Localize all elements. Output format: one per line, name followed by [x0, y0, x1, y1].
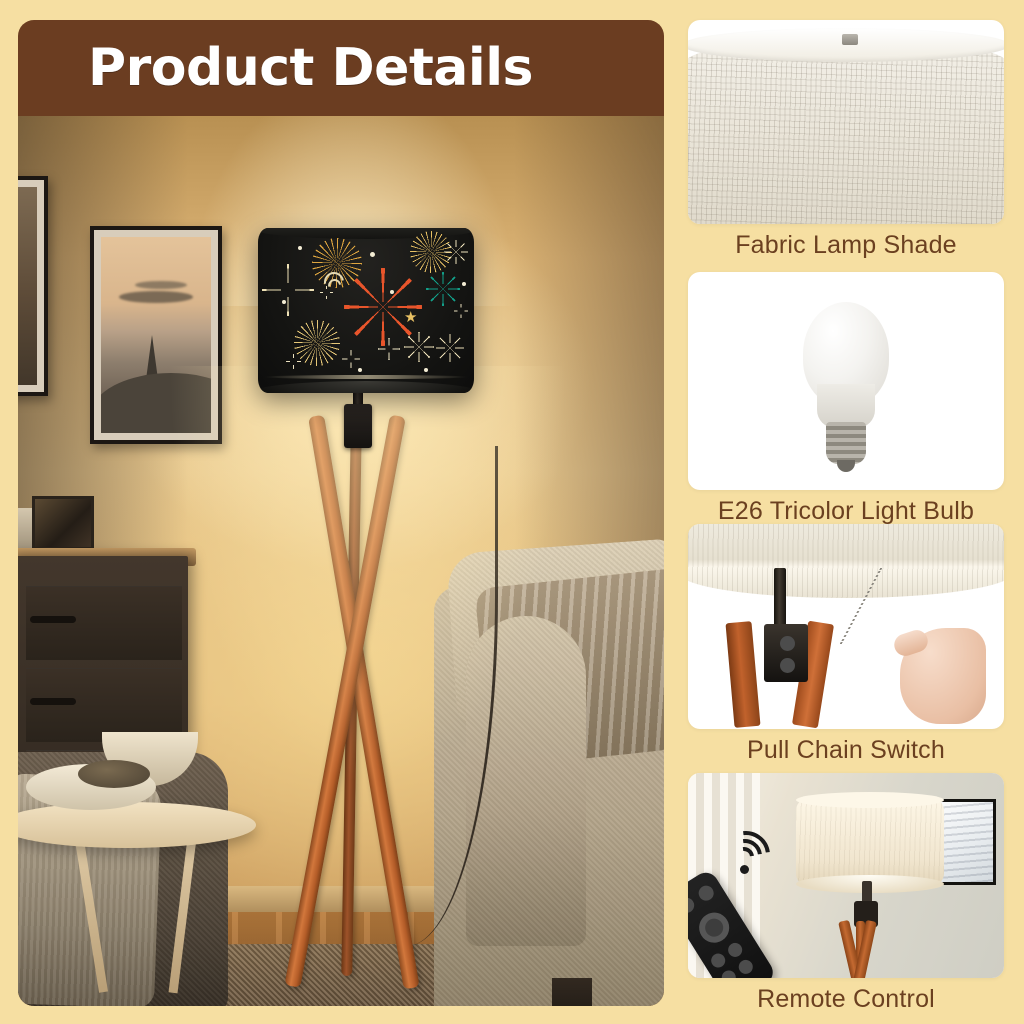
sparkle-icon [378, 338, 400, 360]
detail-label-light-bulb: E26 Tricolor Light Bulb [688, 497, 1004, 526]
starburst-icon [294, 320, 340, 366]
shade-rim-light [264, 375, 468, 379]
bread [78, 760, 150, 788]
photo-frame-on-dresser [32, 496, 94, 550]
signal-dot-icon [740, 865, 749, 874]
cross-star-icon [262, 264, 314, 316]
dresser-drawer [26, 668, 182, 742]
art-mat [18, 180, 44, 392]
art-canvas [101, 237, 211, 433]
fabric-shade-closeup-image [688, 20, 1004, 224]
art-canvas [18, 187, 37, 385]
star-dot [282, 300, 286, 304]
lampshade [796, 799, 944, 885]
detail-label-pull-chain-switch: Pull Chain Switch [688, 736, 1004, 765]
shade-clip-icon [842, 34, 858, 45]
art-cloud [135, 281, 187, 289]
remote-button [736, 957, 755, 976]
bulb-screw-base [826, 422, 866, 464]
detail-card-remote-control[interactable]: Remote Control [688, 773, 1004, 1014]
sparkle-icon [454, 304, 468, 318]
remote-button [696, 883, 717, 904]
star-dot [424, 368, 428, 372]
star-dot [298, 246, 302, 250]
remote-button [709, 951, 728, 970]
bulb-tip [837, 460, 855, 472]
remote-dpad-button [694, 907, 735, 948]
detail-cards-column: Fabric Lamp Shade E26 Tricolor Light Bul… [686, 0, 1024, 1024]
pull-chain-image [688, 524, 1004, 729]
fabric-texture [688, 40, 1004, 224]
drawer-handle [30, 616, 76, 623]
art-mat [94, 230, 218, 440]
sofa-foot [552, 978, 592, 1006]
wooden-leg-left [725, 621, 760, 728]
star-dot [370, 252, 375, 257]
dresser-drawer [26, 586, 182, 660]
photo-image [35, 499, 91, 547]
page-title: Product Details [88, 38, 533, 98]
remote-button [688, 895, 697, 916]
star-8-point-icon [444, 240, 468, 264]
hero-column: Product Details [18, 20, 664, 1006]
detail-card-pull-chain-switch[interactable]: Pull Chain Switch [688, 524, 1004, 765]
drawer-handle [30, 698, 76, 705]
remote-button [719, 968, 738, 978]
tripod-bracket [344, 404, 372, 448]
detail-label-fabric-lamp-shade: Fabric Lamp Shade [688, 231, 1004, 260]
star-dot [390, 290, 394, 294]
star-dot [462, 282, 466, 286]
sparkle-icon [286, 354, 301, 369]
bolt-icon [780, 658, 795, 673]
hero-image: ★ [18, 116, 664, 1006]
remote-control-image [688, 773, 1004, 978]
detail-card-fabric-lamp-shade[interactable]: Fabric Lamp Shade [688, 20, 1004, 260]
detail-label-remote-control: Remote Control [688, 985, 1004, 1014]
star-8-point-icon [404, 332, 434, 362]
sparkle-icon [342, 350, 360, 368]
product-details-page: Product Details [0, 0, 1024, 1024]
art-hill [101, 373, 211, 433]
framed-art-main [90, 226, 222, 444]
star-pattern-lampshade: ★ [258, 228, 474, 393]
star-8-point-icon [436, 334, 464, 362]
remote-button [726, 940, 745, 959]
title-banner: Product Details [18, 20, 664, 116]
framed-art-left [18, 176, 48, 396]
star-dot [358, 368, 362, 372]
star-teal-icon [426, 272, 460, 306]
detail-card-light-bulb[interactable]: E26 Tricolor Light Bulb [688, 272, 1004, 526]
light-bulb-image [688, 272, 1004, 490]
art-cloud [119, 291, 193, 303]
small-star-icon: ★ [404, 310, 417, 325]
